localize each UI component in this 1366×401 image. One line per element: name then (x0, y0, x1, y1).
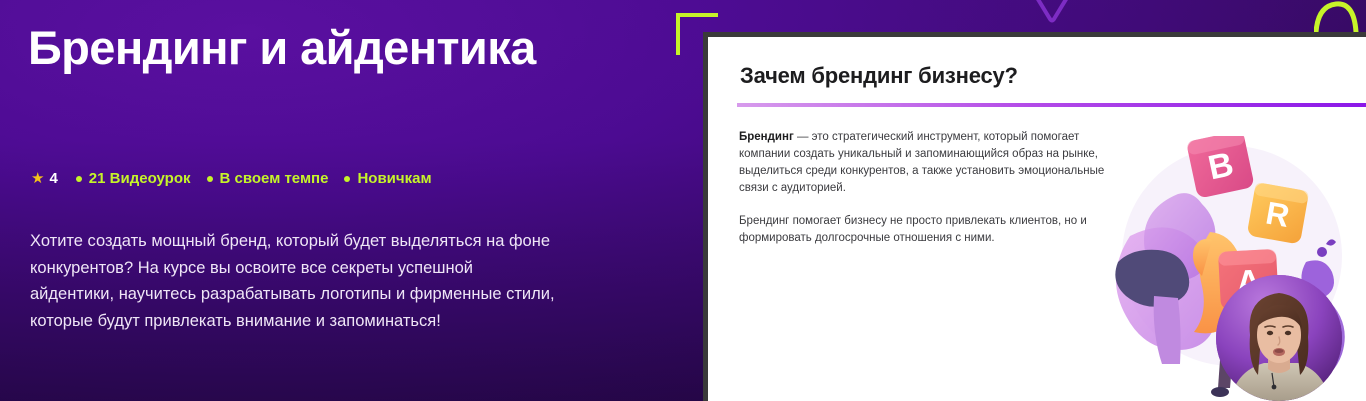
course-meta-row: ★ 4 21 Видеоурок В своем темпе Новичкам (31, 170, 432, 187)
meta-item-pace: В своем темпе (207, 170, 329, 187)
slide-paragraph-text: Брендинг помогает бизнесу не просто прив… (739, 215, 1087, 244)
bullet-dot-icon (76, 176, 82, 182)
course-hero-banner: Брендинг и айдентика ★ 4 21 Видеоурок В … (0, 0, 1366, 401)
slide-paragraph-text: — это стратегический инструмент, который… (739, 131, 1104, 194)
slide-body: Брендинг — это стратегический инструмент… (739, 129, 1114, 263)
arc-icon (1314, 0, 1366, 32)
bullet-dot-icon (344, 176, 350, 182)
bullet-dot-icon (207, 176, 213, 182)
meta-label: В своем темпе (220, 170, 329, 187)
presenter-video-bubble[interactable] (1216, 275, 1342, 401)
meta-label: 21 Видеоурок (89, 170, 191, 187)
slide-heading: Зачем брендинг бизнесу? (740, 63, 1018, 89)
meta-item-lessons: 21 Видеоурок (76, 170, 191, 187)
triangle-outline-icon (1032, 0, 1072, 24)
slide-divider (737, 103, 1366, 107)
meta-label: Новичкам (357, 170, 431, 187)
slide-paragraph: Брендинг — это стратегический инструмент… (739, 129, 1114, 197)
hero-text-column: Брендинг и айдентика ★ 4 21 Видеоурок В … (28, 0, 628, 401)
slide-paragraph: Брендинг помогает бизнесу не просто прив… (739, 213, 1114, 247)
page-title: Брендинг и айдентика (28, 22, 588, 75)
course-description: Хотите создать мощный бренд, который буд… (30, 228, 560, 335)
presenter-avatar (1216, 275, 1342, 401)
slide-paragraph-lead: Брендинг (739, 131, 794, 143)
meta-item-level: Новичкам (344, 170, 431, 187)
rating-value: 4 (49, 170, 57, 187)
star-icon: ★ (31, 171, 44, 186)
